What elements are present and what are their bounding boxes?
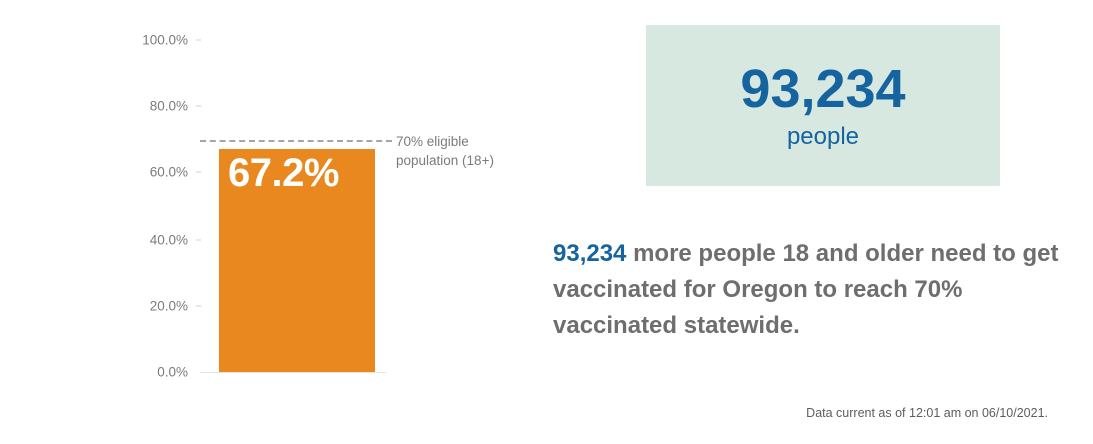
y-axis: 100.0% 80.0% 60.0% 40.0% 20.0% 0.0%: [0, 0, 196, 444]
y-tick-mark-60: [196, 172, 201, 173]
threshold-label-line-1: 70% eligible: [396, 134, 469, 149]
x-axis-baseline: [200, 372, 386, 373]
y-tick-mark-20: [196, 306, 201, 307]
threshold-line-70-percent: [200, 140, 392, 142]
description-highlight-number: 93,234: [553, 240, 626, 267]
vaccination-bar-chart: 100.0% 80.0% 60.0% 40.0% 20.0% 0.0% 67.2…: [0, 0, 540, 444]
y-tick-label-80: 80.0%: [150, 99, 188, 114]
description-text: 93,234 more people 18 and older need to …: [553, 236, 1083, 344]
data-currency-footnote: Data current as of 12:01 am on 06/10/202…: [806, 406, 1048, 420]
threshold-line-label: 70% eligible population (18+): [396, 132, 526, 171]
stat-panel-unit-label: people: [787, 124, 859, 150]
stat-panel-number: 93,234: [740, 61, 905, 118]
y-tick-label-60: 60.0%: [150, 165, 188, 180]
y-tick-label-0: 0.0%: [157, 365, 188, 380]
y-tick-label-40: 40.0%: [150, 233, 188, 248]
y-tick-label-20: 20.0%: [150, 299, 188, 314]
remaining-people-stat-panel: 93,234 people: [646, 25, 1000, 186]
y-tick-mark-100: [196, 40, 201, 41]
y-tick-label-100: 100.0%: [142, 33, 188, 48]
description-rest-text: more people 18 and older need to get vac…: [553, 240, 1059, 339]
threshold-label-line-2: population (18+): [396, 153, 494, 168]
y-tick-mark-80: [196, 106, 201, 107]
y-tick-mark-40: [196, 240, 201, 241]
bar-value-label: 67.2%: [228, 153, 378, 193]
